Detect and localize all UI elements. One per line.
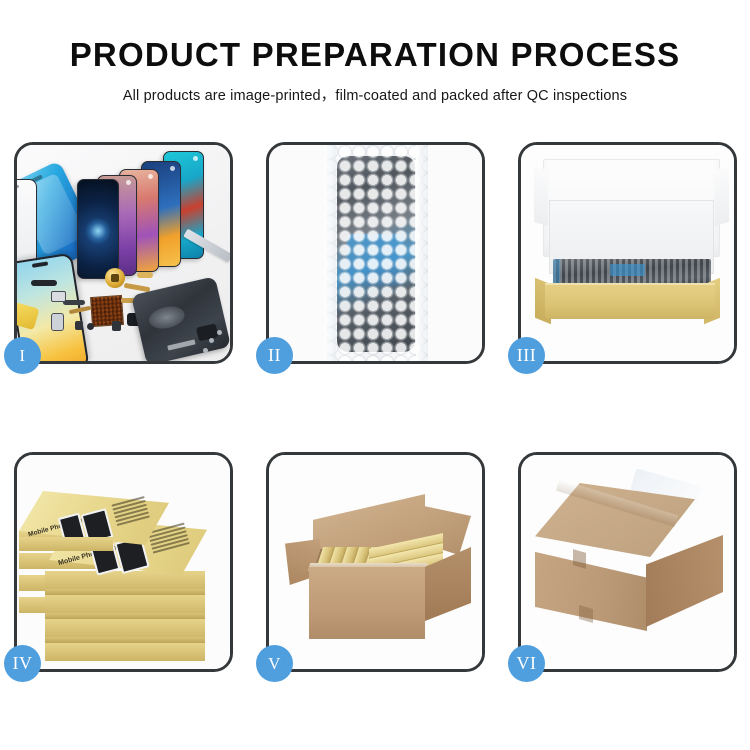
screw-icon	[217, 330, 222, 335]
open-carton	[283, 485, 473, 645]
spare-part-icon	[112, 321, 121, 331]
box-body	[545, 285, 715, 319]
phone-screen-icon	[77, 179, 119, 279]
step-panel-v: V	[266, 452, 485, 672]
spare-part-icon	[63, 300, 85, 305]
stacked-box-edge	[45, 619, 205, 639]
labelled-box-edge	[19, 537, 113, 551]
camera-icon	[148, 174, 153, 179]
stacked-box-edge	[45, 643, 205, 661]
step-image-v	[269, 455, 482, 669]
process-steps-grid: I II	[14, 142, 737, 672]
power-button-flex-icon	[137, 272, 153, 278]
step-badge-iii: III	[508, 337, 545, 374]
stacked-box-edge	[45, 595, 205, 615]
vibrator-motor-icon	[105, 268, 125, 288]
step-image-iv: Mobile Phone Spare Parts Mobile Phone Sp…	[17, 455, 230, 669]
step-image-i	[17, 145, 230, 361]
wireless-coil-icon	[147, 303, 187, 332]
bubble-texture-front	[324, 145, 428, 361]
product-preparation-infographic: PRODUCT PREPARATION PROCESS All products…	[0, 0, 750, 750]
carton-side-face	[646, 535, 723, 627]
step-image-vi	[521, 455, 734, 669]
speaker-slot-icon	[17, 185, 19, 188]
step-image-ii	[269, 145, 482, 361]
step-panel-ii: II	[266, 142, 485, 364]
label-print	[167, 339, 195, 350]
carton-tape-tab	[573, 549, 586, 569]
wallpaper-graphic	[85, 218, 111, 244]
wrap-seal-left	[324, 145, 336, 361]
chip-icon	[196, 324, 219, 342]
step-panel-iv: Mobile Phone Spare Parts Mobile Phone Sp…	[14, 452, 233, 672]
step-badge-v: V	[256, 645, 293, 682]
box-stack: Mobile Phone Spare Parts Mobile Phone Sp…	[19, 473, 230, 663]
spare-part-icon	[75, 321, 83, 330]
camera-icon	[193, 156, 198, 161]
page-subtitle: All products are image-printed，film-coat…	[0, 84, 750, 105]
screw-icon	[203, 348, 208, 353]
camera-icon	[126, 180, 131, 185]
screw-icon	[209, 338, 214, 343]
step-panel-vi: VI	[518, 452, 737, 672]
step-badge-vi: VI	[508, 645, 545, 682]
step-badge-i: I	[4, 337, 41, 374]
step-badge-ii: II	[256, 337, 293, 374]
spare-part-icon	[31, 280, 57, 286]
step-panel-iii: III	[518, 142, 737, 364]
wrap-seal-right	[416, 145, 428, 361]
step-panel-i: I	[14, 142, 233, 364]
camera-icon	[170, 166, 175, 171]
page-title: PRODUCT PREPARATION PROCESS	[0, 36, 750, 74]
spare-part-icon	[87, 323, 94, 330]
notch-icon	[32, 261, 48, 267]
carton-front-face	[309, 567, 425, 639]
spare-part-icon	[51, 291, 66, 302]
sealed-carton	[535, 483, 723, 647]
step-badge-iv: IV	[4, 645, 41, 682]
step-image-iii	[521, 145, 734, 361]
carton-tape-tab	[579, 605, 593, 623]
sim-tray-icon	[51, 313, 64, 331]
